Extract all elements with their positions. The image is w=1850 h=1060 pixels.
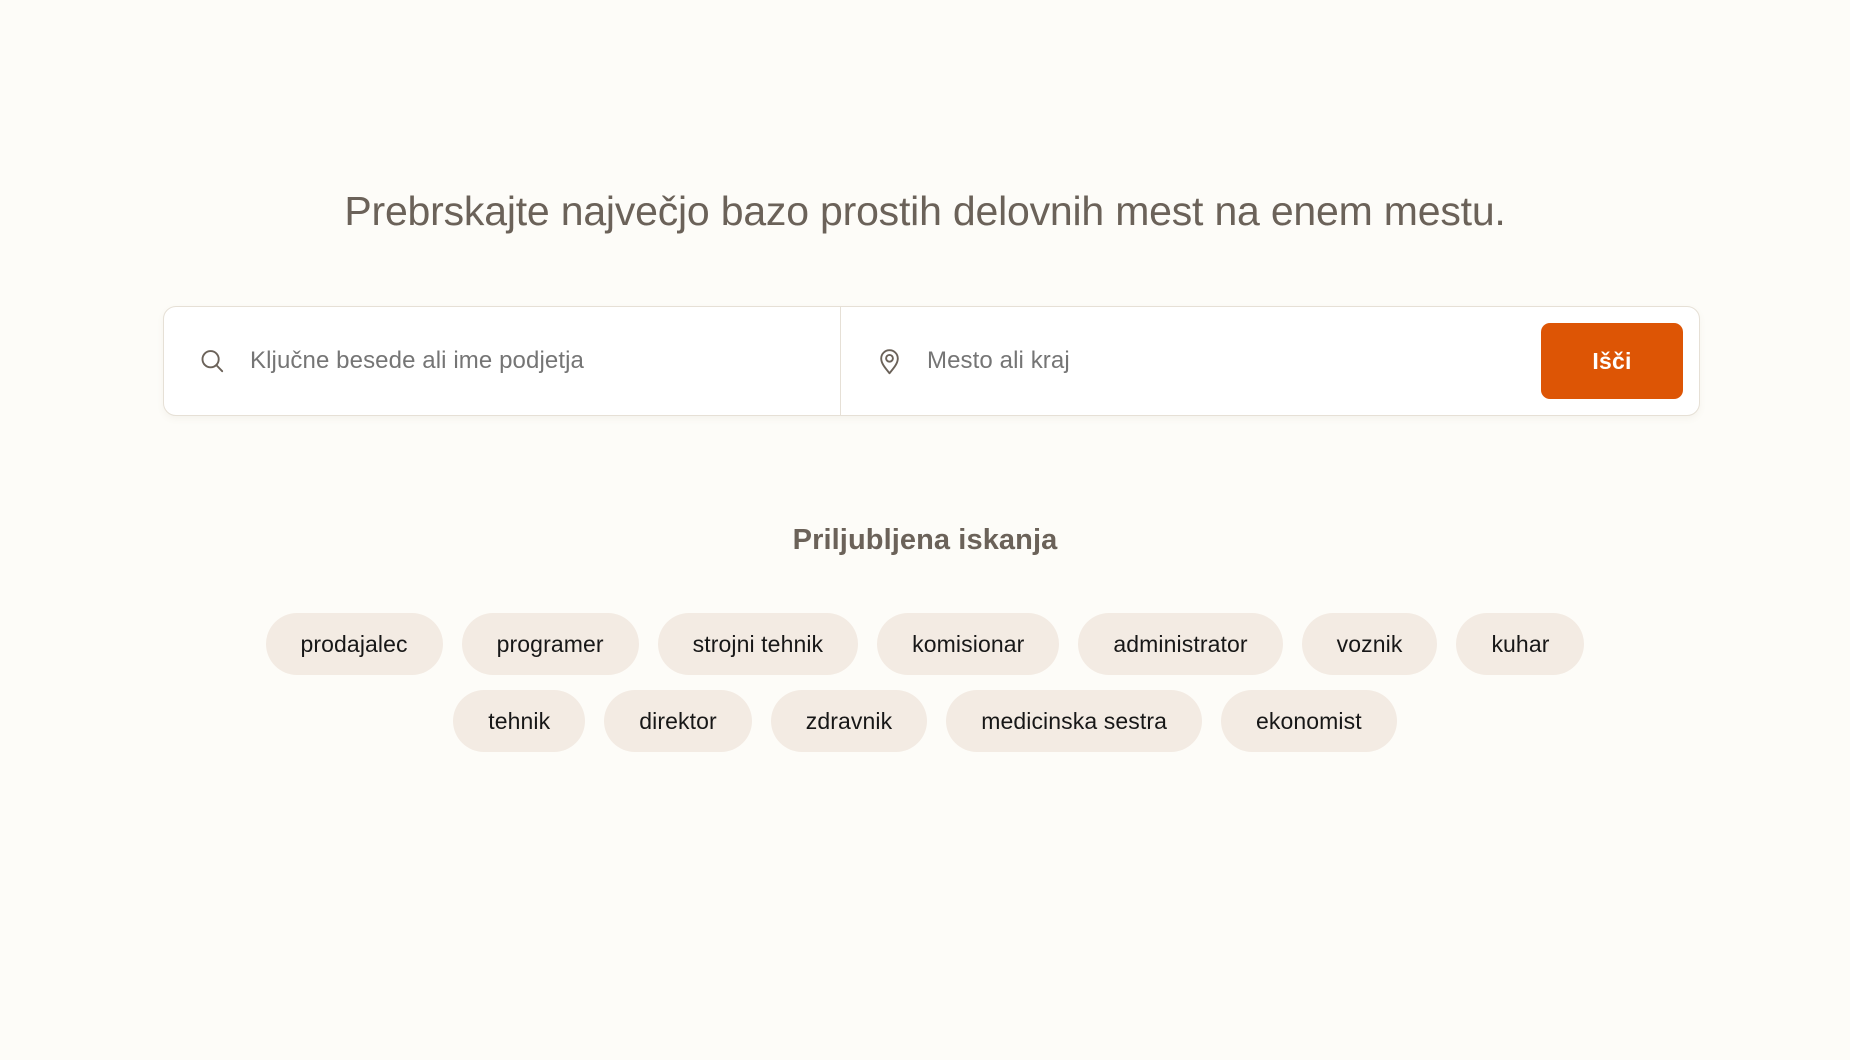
popular-tag[interactable]: medicinska sestra xyxy=(946,690,1202,752)
popular-searches-list: prodajalec programer strojni tehnik komi… xyxy=(0,613,1850,767)
popular-searches-row-1: prodajalec programer strojni tehnik komi… xyxy=(0,613,1850,675)
popular-tag[interactable]: prodajalec xyxy=(266,613,443,675)
popular-tag[interactable]: ekonomist xyxy=(1221,690,1397,752)
popular-tag[interactable]: komisionar xyxy=(877,613,1059,675)
popular-tag[interactable]: zdravnik xyxy=(771,690,927,752)
keyword-search-input[interactable] xyxy=(250,347,840,375)
popular-tag[interactable]: programer xyxy=(462,613,639,675)
popular-tag[interactable]: direktor xyxy=(604,690,752,752)
location-search-field[interactable]: Išči xyxy=(840,307,1699,415)
popular-tag[interactable]: tehnik xyxy=(453,690,585,752)
popular-tag[interactable]: kuhar xyxy=(1456,613,1584,675)
popular-tag[interactable]: strojni tehnik xyxy=(658,613,859,675)
popular-searches-title: Priljubljena iskanja xyxy=(0,524,1850,557)
popular-tag[interactable]: administrator xyxy=(1078,613,1282,675)
job-search-page: Prebrskajte največjo bazo prostih delovn… xyxy=(0,0,1850,1060)
popular-searches-row-2: tehnik direktor zdravnik medicinska sest… xyxy=(0,690,1850,752)
search-submit-button[interactable]: Išči xyxy=(1541,323,1683,399)
search-bar: Išči xyxy=(163,306,1700,416)
map-pin-icon xyxy=(874,346,904,376)
search-icon xyxy=(197,346,227,376)
page-title: Prebrskajte največjo bazo prostih delovn… xyxy=(0,185,1850,238)
popular-tag[interactable]: voznik xyxy=(1302,613,1438,675)
keyword-search-field[interactable] xyxy=(164,307,840,415)
